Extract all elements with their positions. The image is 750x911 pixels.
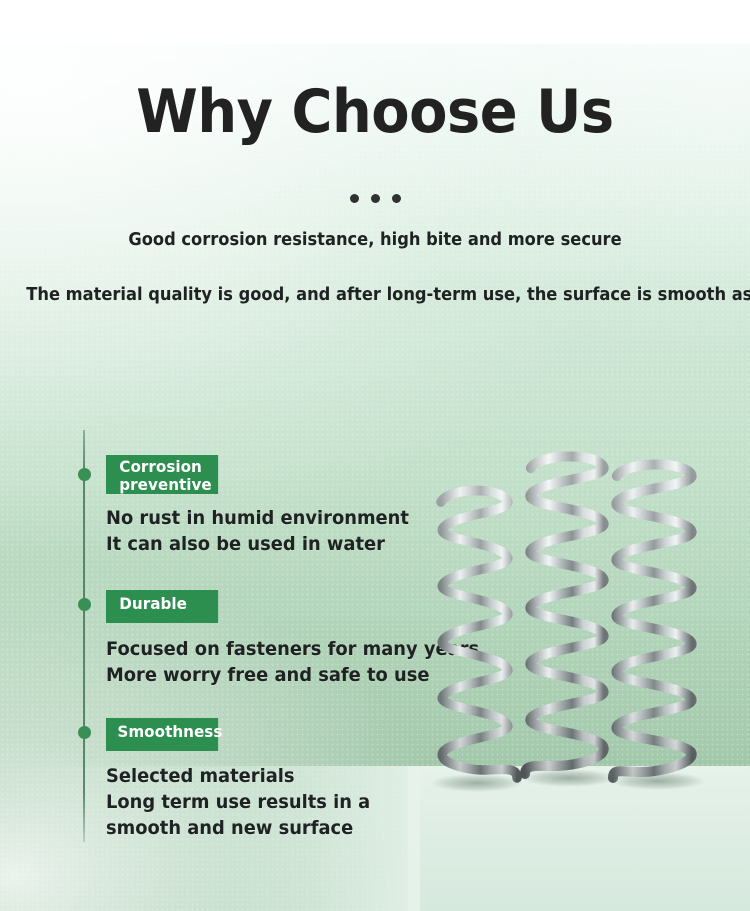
timeline-axis (83, 430, 85, 842)
subtitle-line-1: Good corrosion resistance, high bite and… (26, 230, 724, 250)
divider-dot (392, 194, 401, 203)
why-choose-us-page: Why Choose Us Good corrosion resistance,… (0, 0, 750, 911)
top-white-strip (0, 0, 750, 44)
timeline-dot-1 (78, 468, 91, 481)
timeline-dot-2 (78, 598, 91, 611)
feature-body-corrosion-preventive: No rust in humid environment It can also… (106, 505, 409, 557)
feature-badge-durable: Durable (106, 590, 218, 623)
timeline-dot-3 (78, 726, 91, 739)
three-dots-divider-icon (0, 194, 750, 203)
page-title: Why Choose Us (26, 82, 724, 142)
feature-body-smoothness: Selected materials Long term use results… (106, 763, 370, 841)
feature-badge-smoothness: Smoothness (106, 718, 218, 751)
subtitle-line-2: The material quality is good, and after … (26, 285, 724, 305)
divider-dot (350, 194, 359, 203)
feature-badge-corrosion-preventive: Corrosion preventive (106, 455, 218, 494)
divider-dot (371, 194, 380, 203)
feature-body-durable: Focused on fasteners for many years More… (106, 636, 479, 688)
